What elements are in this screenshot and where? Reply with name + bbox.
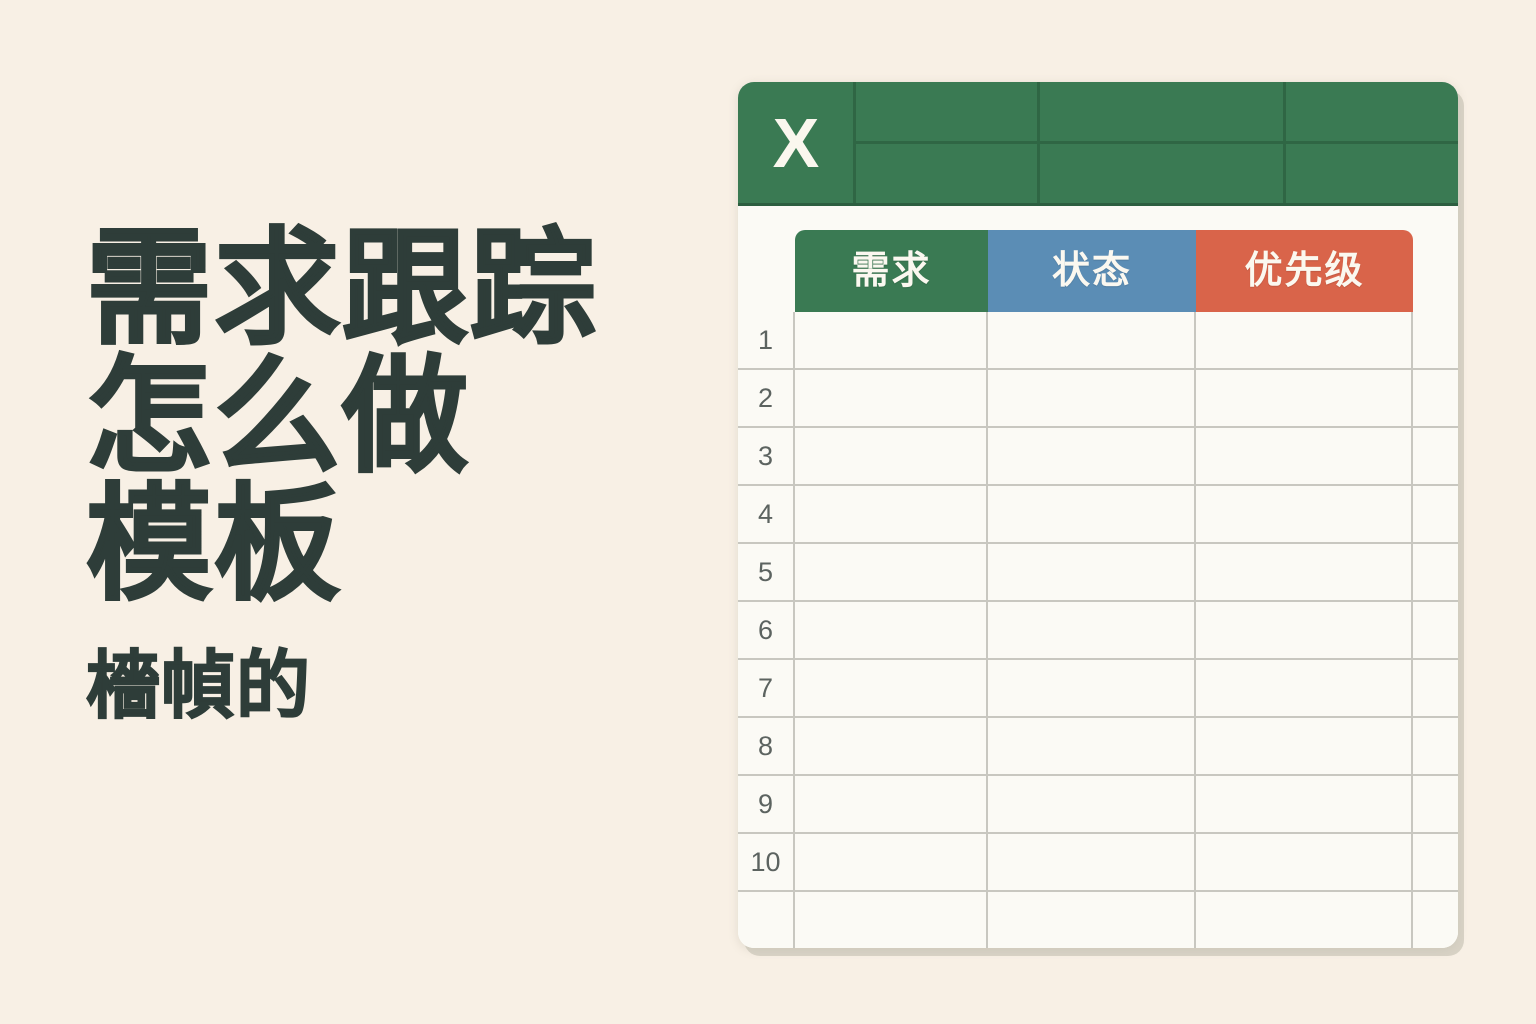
cell-priority[interactable] [1196, 602, 1413, 658]
cell-priority[interactable] [1196, 486, 1413, 542]
cell-status[interactable] [988, 776, 1196, 832]
row-number: 10 [738, 834, 795, 890]
cell-status[interactable] [988, 312, 1196, 368]
spreadsheet-body: 需求 状态 优先级 1 2 3 [738, 206, 1458, 948]
row-number: 3 [738, 428, 795, 484]
ribbon-cell [1037, 82, 1284, 141]
cell-extra[interactable] [1413, 312, 1458, 368]
cell-extra[interactable] [1413, 660, 1458, 716]
row-number: 2 [738, 370, 795, 426]
cell-status[interactable] [988, 370, 1196, 426]
cell-priority[interactable] [1196, 544, 1413, 600]
table-row[interactable]: 8 [738, 716, 1458, 774]
cell-requirement[interactable] [795, 660, 988, 716]
table-row[interactable] [738, 890, 1458, 948]
cell-requirement[interactable] [795, 834, 988, 890]
cell-extra[interactable] [1413, 718, 1458, 774]
cell-requirement[interactable] [795, 428, 988, 484]
headline-block: 需求跟踪 怎么做 模板 檣幀的 [86, 228, 706, 723]
cell-status[interactable] [988, 544, 1196, 600]
cell-status[interactable] [988, 602, 1196, 658]
cell-priority[interactable] [1196, 834, 1413, 890]
column-header-requirement[interactable]: 需求 [795, 230, 988, 312]
cell-priority[interactable] [1196, 370, 1413, 426]
cell-priority[interactable] [1196, 892, 1413, 948]
headline-line-2: 怎么做 [86, 356, 706, 478]
cell-extra[interactable] [1413, 602, 1458, 658]
cell-extra[interactable] [1413, 892, 1458, 948]
row-number: 6 [738, 602, 795, 658]
headline-subtitle: 檣幀的 [86, 649, 706, 723]
cell-requirement[interactable] [795, 486, 988, 542]
table-row[interactable]: 7 [738, 658, 1458, 716]
ribbon-cell [856, 82, 1037, 141]
table-row[interactable]: 4 [738, 484, 1458, 542]
spreadsheet-card: X 需求 状态 优先级 1 [738, 82, 1458, 948]
table-row[interactable]: 5 [738, 542, 1458, 600]
row-number: 4 [738, 486, 795, 542]
ribbon-cell [856, 144, 1037, 203]
cell-requirement[interactable] [795, 602, 988, 658]
cell-requirement[interactable] [795, 370, 988, 426]
cell-extra[interactable] [1413, 486, 1458, 542]
cell-requirement[interactable] [795, 892, 988, 948]
table-row[interactable]: 1 [738, 312, 1458, 368]
row-number [738, 892, 795, 948]
row-number: 8 [738, 718, 795, 774]
cell-requirement[interactable] [795, 776, 988, 832]
cell-priority[interactable] [1196, 312, 1413, 368]
ribbon-row [856, 82, 1458, 141]
column-header-priority[interactable]: 优先级 [1196, 230, 1413, 312]
cell-extra[interactable] [1413, 776, 1458, 832]
headline-line-3: 模板 [86, 484, 706, 606]
row-number: 1 [738, 312, 795, 368]
table-row[interactable]: 3 [738, 426, 1458, 484]
row-number: 5 [738, 544, 795, 600]
cell-extra[interactable] [1413, 544, 1458, 600]
column-header-strip: 需求 状态 优先级 [795, 230, 1413, 312]
cell-priority[interactable] [1196, 776, 1413, 832]
cell-priority[interactable] [1196, 660, 1413, 716]
cell-extra[interactable] [1413, 834, 1458, 890]
cell-status[interactable] [988, 834, 1196, 890]
excel-logo: X [738, 82, 856, 203]
cell-requirement[interactable] [795, 312, 988, 368]
table-row[interactable]: 6 [738, 600, 1458, 658]
column-header-status[interactable]: 状态 [988, 230, 1196, 312]
cell-status[interactable] [988, 892, 1196, 948]
cell-extra[interactable] [1413, 428, 1458, 484]
cell-status[interactable] [988, 428, 1196, 484]
table-row[interactable]: 10 [738, 832, 1458, 890]
cell-status[interactable] [988, 718, 1196, 774]
row-number: 9 [738, 776, 795, 832]
excel-x-icon: X [773, 108, 819, 178]
cell-priority[interactable] [1196, 428, 1413, 484]
cell-status[interactable] [988, 486, 1196, 542]
table-row[interactable]: 9 [738, 774, 1458, 832]
ribbon-cell [1283, 144, 1458, 203]
cell-requirement[interactable] [795, 718, 988, 774]
ribbon-cell [1283, 82, 1458, 141]
ribbon-grid [856, 82, 1458, 203]
cell-priority[interactable] [1196, 718, 1413, 774]
cell-extra[interactable] [1413, 370, 1458, 426]
ribbon-cell [1037, 144, 1284, 203]
table-row[interactable]: 2 [738, 368, 1458, 426]
headline-line-1: 需求跟踪 [86, 228, 706, 350]
row-number: 7 [738, 660, 795, 716]
cell-requirement[interactable] [795, 544, 988, 600]
ribbon-row [856, 141, 1458, 203]
cell-status[interactable] [988, 660, 1196, 716]
spreadsheet-grid: 1 2 3 4 [738, 312, 1458, 948]
spreadsheet-title-bar: X [738, 82, 1458, 206]
